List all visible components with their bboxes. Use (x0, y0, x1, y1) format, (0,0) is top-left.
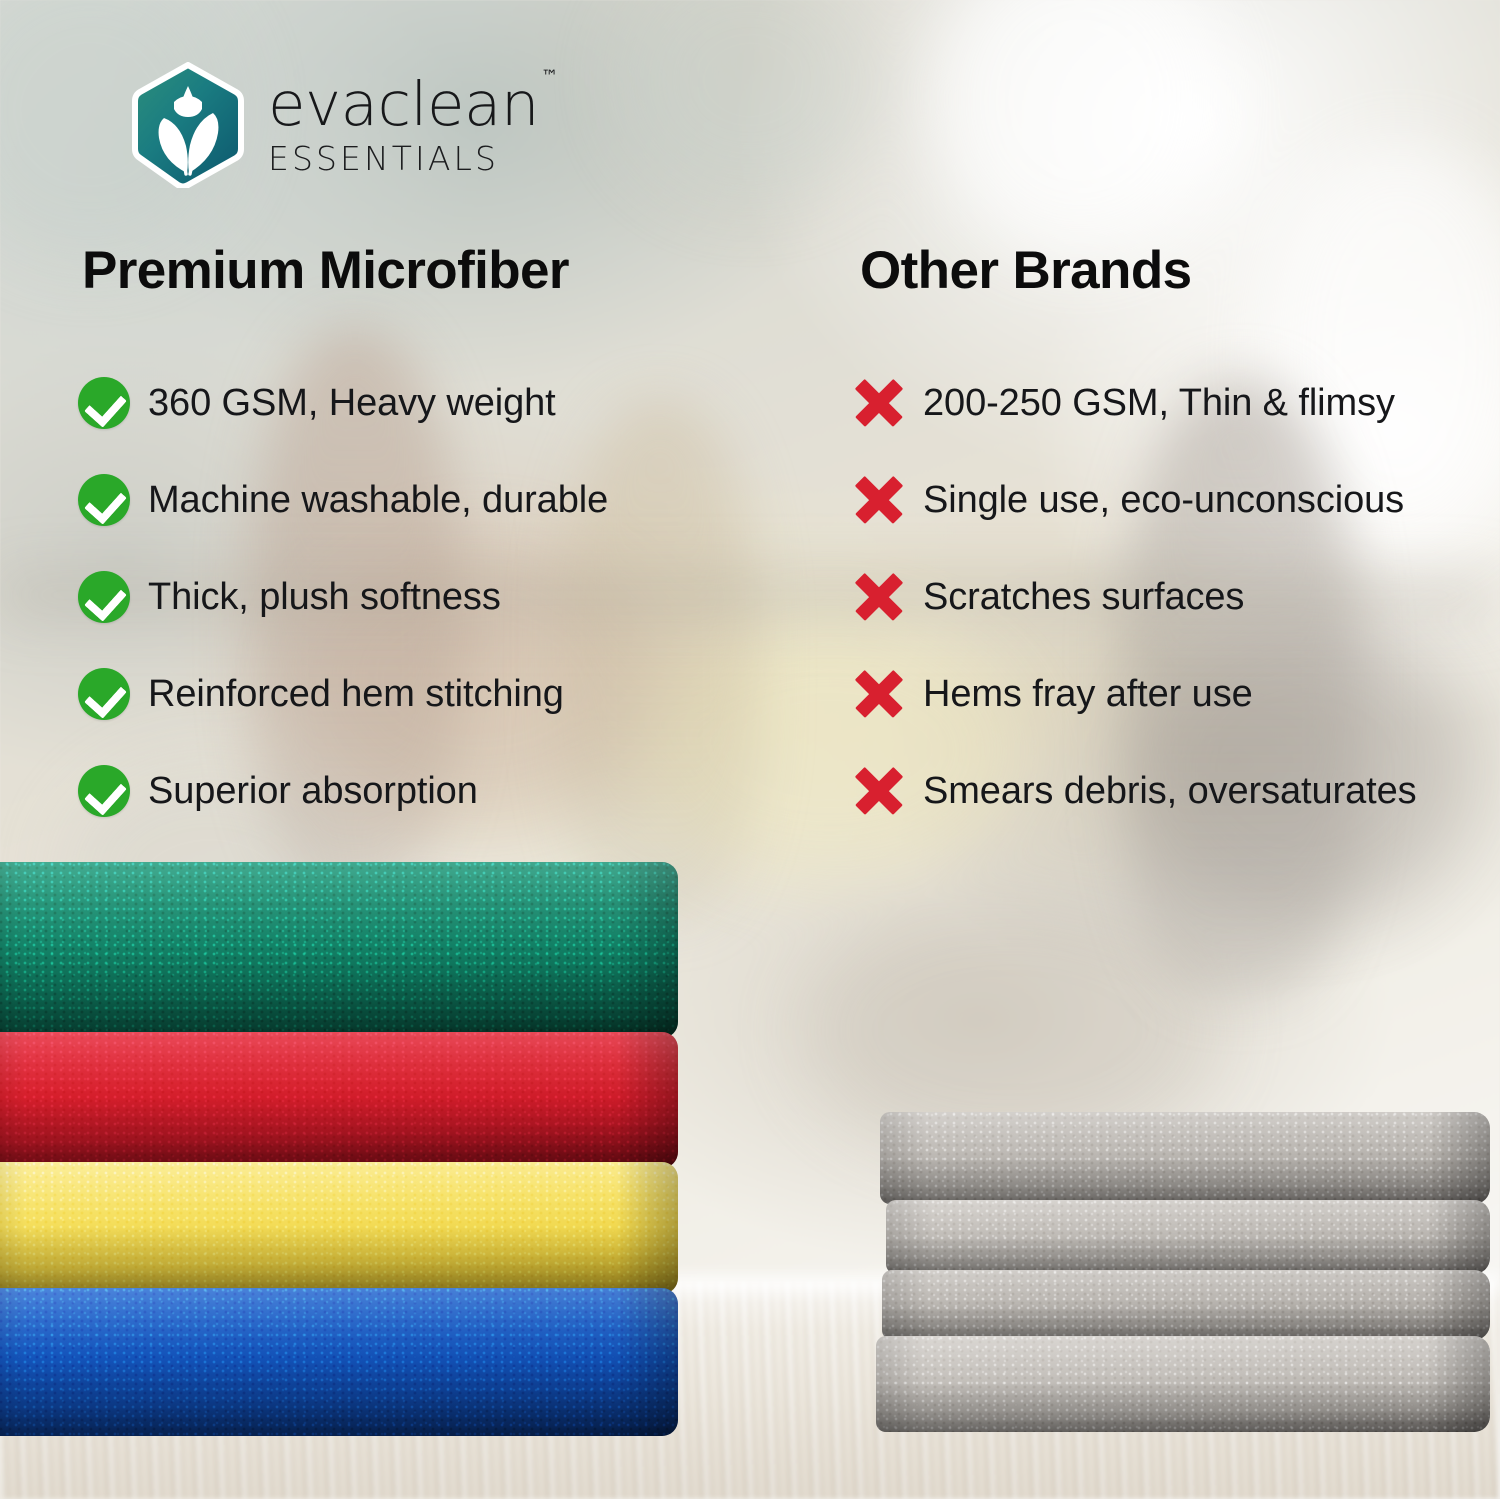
feature-item: Superior absorption (70, 756, 608, 826)
feature-label: Reinforced hem stitching (138, 673, 564, 716)
feature-label: 360 GSM, Heavy weight (138, 382, 556, 425)
towel-red (0, 1032, 678, 1168)
premium-microfiber-towel-stack (0, 862, 678, 1436)
feature-item: Machine washable, durable (70, 465, 608, 535)
check-circle-icon (70, 765, 138, 817)
towel-green (0, 862, 678, 1038)
towel-gray (880, 1112, 1490, 1204)
feature-label: Smears debris, oversaturates (913, 770, 1417, 813)
check-circle-icon (70, 474, 138, 526)
check-circle-icon (70, 668, 138, 720)
feature-item: Scratches surfaces (845, 562, 1417, 632)
feature-label: Hems fray after use (913, 673, 1253, 716)
towel-gray (876, 1336, 1490, 1432)
feature-item: 200-250 GSM, Thin & flimsy (845, 368, 1417, 438)
feature-item: Smears debris, oversaturates (845, 756, 1417, 826)
towel-blue (0, 1288, 678, 1436)
feature-label: Thick, plush softness (138, 576, 501, 619)
check-circle-icon (70, 571, 138, 623)
feature-label: Superior absorption (138, 770, 478, 813)
feature-label: 200-250 GSM, Thin & flimsy (913, 382, 1395, 425)
premium-feature-list: 360 GSM, Heavy weight Machine washable, … (70, 368, 608, 826)
feature-item: Reinforced hem stitching (70, 659, 608, 729)
feature-label: Machine washable, durable (138, 479, 608, 522)
feature-item: Hems fray after use (845, 659, 1417, 729)
other-brands-feature-list: 200-250 GSM, Thin & flimsy Single use, e… (845, 368, 1417, 826)
feature-item: Thick, plush softness (70, 562, 608, 632)
feature-item: 360 GSM, Heavy weight (70, 368, 608, 438)
promo-graphic: evaclean™ ESSENTIALS Premium Microfiber … (0, 0, 1500, 1499)
x-mark-icon (845, 667, 913, 721)
left-column-heading: Premium Microfiber (82, 240, 569, 301)
check-circle-icon (70, 377, 138, 429)
x-mark-icon (845, 376, 913, 430)
feature-label: Scratches surfaces (913, 576, 1244, 619)
towel-yellow (0, 1162, 678, 1294)
x-mark-icon (845, 764, 913, 818)
right-column-heading: Other Brands (860, 240, 1191, 301)
feature-item: Single use, eco-unconscious (845, 465, 1417, 535)
x-mark-icon (845, 570, 913, 624)
x-mark-icon (845, 473, 913, 527)
trademark-symbol: ™ (541, 67, 558, 87)
feature-label: Single use, eco-unconscious (913, 479, 1404, 522)
brand-logo: evaclean™ ESSENTIALS (130, 62, 556, 188)
brand-name: evaclean™ (268, 76, 556, 134)
brand-tagline: ESSENTIALS (268, 139, 556, 178)
towel-gray (886, 1200, 1490, 1274)
towel-gray (882, 1270, 1490, 1340)
other-brand-towel-stack (880, 1112, 1490, 1432)
hexagon-leaf-droplet-icon (130, 62, 246, 188)
